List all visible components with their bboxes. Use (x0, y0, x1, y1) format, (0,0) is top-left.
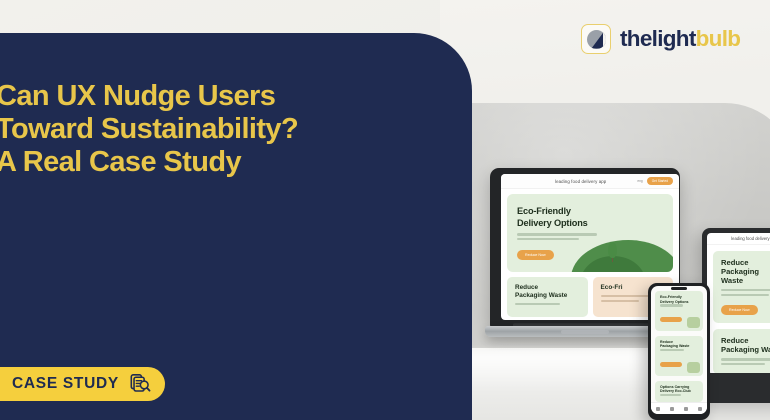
blur-text-line (601, 295, 653, 297)
phone-card-2[interactable]: Reduce Packaging Waste (655, 336, 703, 376)
phone-bottom-nav[interactable] (651, 402, 707, 414)
home-icon[interactable] (656, 407, 660, 411)
brand-logo-text-gold: bulb (696, 26, 741, 51)
laptop-app-title: leading food delivery app (555, 179, 606, 184)
search-icon[interactable] (670, 407, 674, 411)
headline-line-3: A Real Case Study (0, 146, 466, 179)
blur-text-line (721, 363, 765, 365)
logo-disc-shape (587, 30, 606, 49)
orders-icon[interactable] (684, 407, 688, 411)
card-title-line2: Packaging Waste (660, 344, 689, 348)
phone-card-3-title: Options Carrying Delivery Eco-Club (660, 385, 698, 394)
card-title-line1: Reduce (515, 284, 538, 291)
blur-text-line (517, 238, 579, 240)
phone-card-3[interactable]: Options Carrying Delivery Eco-Club (655, 381, 703, 403)
case-study-badge: CASE STUDY (0, 367, 165, 401)
tablet-screen: leading food delivery app Reduce Packagi… (707, 233, 770, 373)
lightbulb-disc-icon (581, 24, 611, 54)
card-title-line1: Eco-Friendly (660, 295, 682, 299)
blur-text-line (660, 349, 684, 351)
blur-text-line (601, 300, 640, 302)
device-mockup-photo: leading food delivery app eng Get Starte… (440, 0, 770, 420)
laptop-cta-button[interactable]: Get Started (647, 177, 673, 184)
card-title-line2: Packaging Waste (721, 345, 770, 354)
laptop-card-reduce[interactable]: Reduce Packaging Waste (507, 277, 588, 317)
phone-card-1[interactable]: Eco-Friendly Delivery Options (655, 291, 703, 331)
laptop-hero-cta[interactable]: Reduce Now (517, 250, 554, 260)
blur-text-line (660, 394, 681, 396)
laptop-hero-title-line1: Eco-Friendly (517, 206, 571, 216)
blur-text-line (517, 233, 597, 235)
card-title-line1: Eco-Fri (601, 284, 623, 291)
document-magnifier-icon (129, 373, 151, 395)
card-title-line1: Reduce (721, 336, 748, 345)
blur-text-line (721, 358, 770, 360)
laptop-hero-title: Eco-Friendly Delivery Options (507, 194, 673, 229)
card-title-line2: Delivery Options (660, 300, 689, 304)
card-title-line2: Delivery Eco-Club (660, 389, 691, 393)
card-title-line1: Reduce (660, 340, 673, 344)
phone-notch (671, 287, 687, 290)
phone-card-1-thumbnail (687, 317, 700, 328)
headline-line-2: Toward Sustainability? (0, 113, 466, 146)
tablet-card-primary-title: Reduce Packaging Waste (721, 258, 770, 285)
tablet-card-primary[interactable]: Reduce Packaging Waste Reduce Now (713, 251, 770, 323)
tablet-app-title: leading food delivery app (707, 233, 770, 245)
blur-text-line (515, 303, 560, 305)
laptop-app-topbar: leading food delivery app eng Get Starte… (501, 174, 679, 189)
phone-screen: Eco-Friendly Delivery Options Reduce Pac… (651, 286, 707, 414)
tablet-card-secondary[interactable]: Reduce Packaging Waste (713, 329, 770, 373)
card-title-line2: Packaging Waste (515, 292, 567, 299)
phone-card-1-title: Eco-Friendly Delivery Options (660, 295, 698, 304)
phone-card-2-cta[interactable] (660, 362, 682, 366)
brand-logo-text: thelightbulb (620, 26, 740, 52)
tablet-device: leading food delivery app Reduce Packagi… (702, 228, 770, 403)
laptop-hero-subtext (517, 233, 597, 240)
card-title-line2: Waste (721, 276, 743, 285)
tablet-card-secondary-title: Reduce Packaging Waste (721, 336, 770, 354)
card-title-line1: Reduce Packaging (721, 258, 759, 276)
phone-device: Eco-Friendly Delivery Options Reduce Pac… (648, 283, 710, 420)
headline-line-1: Can UX Nudge Users (0, 80, 466, 113)
phone-card-2-thumbnail (687, 362, 700, 373)
laptop-lang-selector[interactable]: eng (637, 179, 642, 183)
card-title-line1: Options Carrying (660, 385, 689, 389)
laptop-trackpad (561, 330, 609, 334)
laptop-hero-card: Eco-Friendly Delivery Options Reduce Now (507, 194, 673, 272)
brand-logo-text-dark: thelight (620, 26, 696, 51)
tablet-card-cta[interactable]: Reduce Now (721, 305, 758, 315)
laptop-hero-title-line2: Delivery Options (517, 218, 588, 228)
blur-text-line (721, 294, 769, 296)
phone-card-2-title: Reduce Packaging Waste (660, 340, 698, 349)
poster-canvas: leading food delivery app eng Get Starte… (0, 0, 770, 420)
tree-icon (608, 242, 617, 258)
page-title: Can UX Nudge Users Toward Sustainability… (0, 80, 466, 179)
phone-card-1-cta[interactable] (660, 317, 682, 321)
laptop-card-reduce-title: Reduce Packaging Waste (515, 284, 580, 300)
profile-icon[interactable] (698, 407, 702, 411)
case-study-badge-label: CASE STUDY (12, 375, 119, 393)
blur-text-line (660, 304, 683, 306)
blur-text-line (721, 289, 770, 291)
logo-disc-segment-light (603, 30, 606, 49)
brand-logo[interactable]: thelightbulb (581, 24, 740, 54)
